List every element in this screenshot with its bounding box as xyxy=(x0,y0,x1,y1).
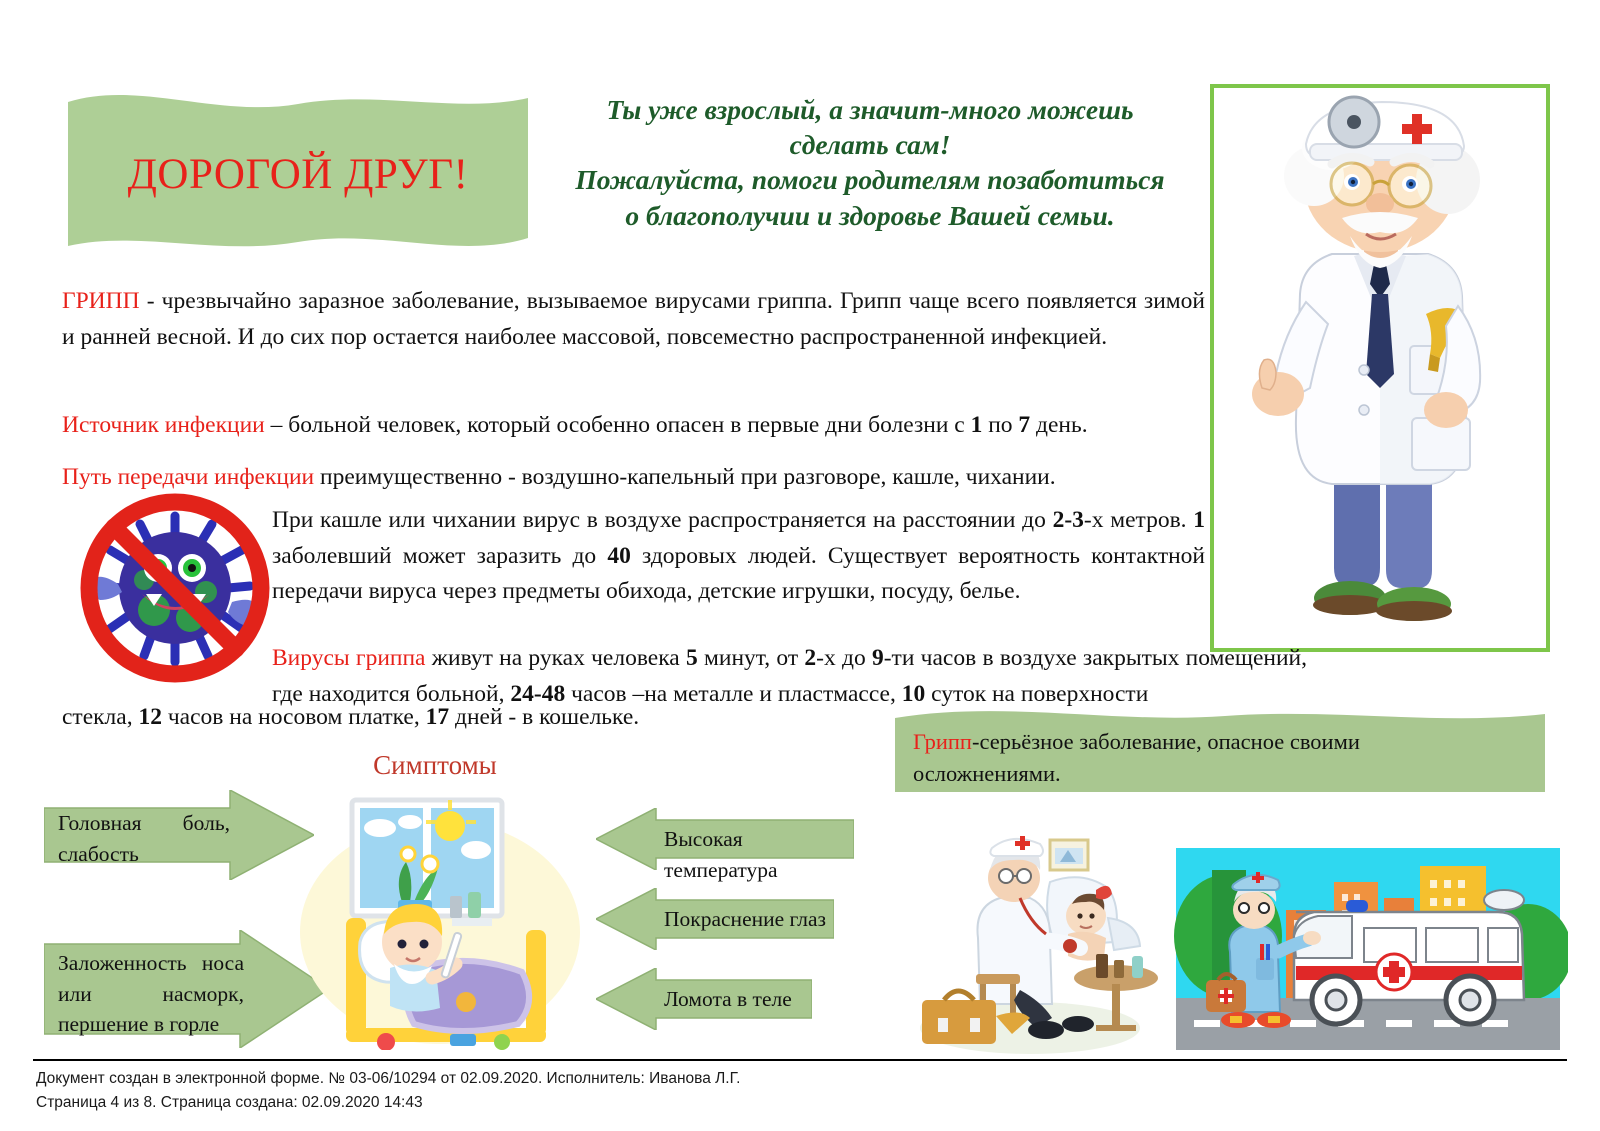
paragraph-transmission-keyword: Путь передачи инфекции xyxy=(62,464,314,490)
symptom-arrow-body-aches-label: Ломота в теле xyxy=(664,984,812,1015)
p4-num-2: 1 xyxy=(1193,507,1205,533)
paragraph-source-num-1: 1 xyxy=(971,412,983,438)
p4-num-3: 40 xyxy=(607,543,631,569)
footer-line-2: Страница 4 из 8. Страница создана: 02.09… xyxy=(36,1091,740,1115)
complications-note: Грипп-серьёзное заболевание, опасное сво… xyxy=(895,708,1545,798)
symptom-arrow-nose: Заложенность носа или насморк, першение … xyxy=(44,930,329,1048)
paragraph-source-num-2: 7 xyxy=(1018,412,1030,438)
doctor-illustration-frame xyxy=(1210,84,1550,652)
headline-line-1: Ты уже взрослый, а значит-много можешь xyxy=(520,92,1220,127)
ambulance-illustration xyxy=(1168,840,1568,1058)
p4-text-1: При кашле или чихании вирус в воздухе ра… xyxy=(272,507,1053,533)
p5-keyword: Вирусы гриппа xyxy=(272,645,425,671)
doctor-examining-child-illustration xyxy=(900,818,1170,1056)
sick-child-illustration xyxy=(290,792,590,1050)
paragraph-source-text-3: день. xyxy=(1030,412,1087,438)
paragraph-grip-body: - чрезвычайно заразное заболевание, вызы… xyxy=(62,288,1205,350)
headline-line-2: сделать сам! xyxy=(520,127,1220,162)
headline: Ты уже взрослый, а значит-много можешь с… xyxy=(520,92,1220,233)
symptom-arrow-headache: Головная боль, слабость xyxy=(44,790,314,880)
title-ribbon: ДОРОГОЙ ДРУГ! xyxy=(68,88,528,260)
complications-note-body: -серьёзное заболевание, опасное своими о… xyxy=(913,729,1360,786)
p4-text-2: -х метров. xyxy=(1084,507,1193,533)
title-ribbon-label: ДОРОГОЙ ДРУГ! xyxy=(68,150,528,199)
paragraph-grip-keyword: ГРИПП xyxy=(62,288,140,314)
no-virus-icon xyxy=(66,492,284,688)
p5-num-1: 5 xyxy=(686,645,698,671)
paragraph-transmission: Путь передачи инфекции преимущественно -… xyxy=(62,460,1205,496)
p5-num-3: 9 xyxy=(872,645,884,671)
symptom-arrow-red-eyes: Покраснение глаз xyxy=(596,888,834,950)
p6-num-1: 12 xyxy=(138,704,162,730)
p4-text-3: заболевший может заразить до xyxy=(272,543,607,569)
headline-line-4: о благополучии и здоровье Вашей семьи. xyxy=(520,198,1220,233)
symptom-arrow-fever-label: Высокая температура xyxy=(664,824,850,885)
p6-text-2: часов на носовом платке, xyxy=(162,704,426,730)
paragraph-source-keyword: Источник инфекции xyxy=(62,412,265,438)
p5-text-3: -х до xyxy=(816,645,872,671)
cartoon-doctor-icon xyxy=(1214,88,1546,648)
p6-text-3: дней - в кошельке. xyxy=(449,704,639,730)
paragraph-transmission-text: преимущественно - воздушно-капельный при… xyxy=(314,464,1055,490)
footer-divider xyxy=(33,1059,1567,1061)
complications-note-text: Грипп-серьёзное заболевание, опасное сво… xyxy=(913,726,1513,789)
paragraph-source: Источник инфекции – больной человек, кот… xyxy=(62,408,1205,444)
symptom-arrow-body-aches: Ломота в теле xyxy=(596,968,812,1030)
p5-text-1: живут на руках человека xyxy=(425,645,686,671)
paragraph-source-text-1: – больной человек, который особенно опас… xyxy=(265,412,971,438)
paragraph-virus-survival-cont: стекла, 12 часов на носовом платке, 17 д… xyxy=(62,700,962,736)
p4-num-1: 2-3 xyxy=(1053,507,1084,533)
poster-page: ДОРОГОЙ ДРУГ! Ты уже взрослый, а значит-… xyxy=(0,0,1600,1131)
paragraph-source-text-2: по xyxy=(982,412,1018,438)
symptom-arrow-red-eyes-label: Покраснение глаз xyxy=(664,904,832,935)
p6-text-1: стекла, xyxy=(62,704,138,730)
paragraph-grip: ГРИПП - чрезвычайно заразное заболевание… xyxy=(62,284,1205,355)
footer: Документ создан в электронной форме. № 0… xyxy=(36,1067,740,1115)
p6-num-2: 17 xyxy=(426,704,450,730)
footer-line-1: Документ создан в электронной форме. № 0… xyxy=(36,1067,740,1091)
p5-num-2: 2 xyxy=(804,645,816,671)
symptom-arrow-headache-label: Головная боль, слабость xyxy=(58,808,230,869)
headline-line-3: Пожалуйста, помоги родителям позаботитьс… xyxy=(520,162,1220,197)
paragraph-transmission-detail: При кашле или чихании вирус в воздухе ра… xyxy=(272,503,1205,610)
p5-text-2: минут, от xyxy=(698,645,805,671)
symptom-arrow-fever: Высокая температура xyxy=(596,808,854,870)
symptoms-title: Симптомы xyxy=(300,750,570,781)
complications-note-keyword: Грипп xyxy=(913,729,972,754)
symptom-arrow-nose-label: Заложенность носа или насморк, першение … xyxy=(58,948,244,1040)
